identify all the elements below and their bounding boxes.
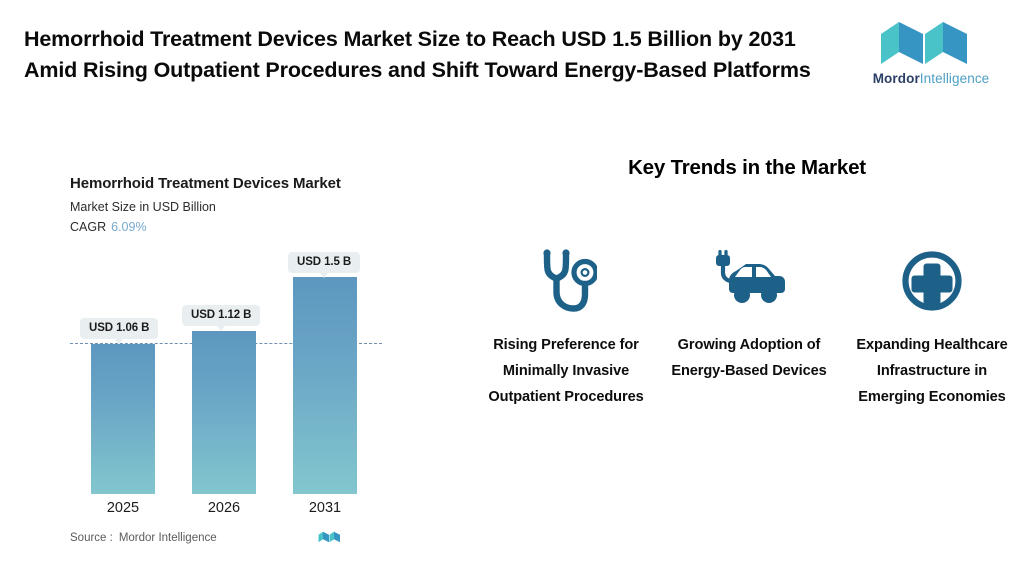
stethoscope-icon <box>535 245 597 317</box>
electric-car-icon <box>712 245 786 317</box>
bar-value-label-2026: USD 1.12 B <box>182 305 260 326</box>
source-label: Source : <box>70 532 113 544</box>
infographic-page: Hemorrhoid Treatment Devices Market Size… <box>0 0 1024 573</box>
key-trends-columns: Rising Preference for Minimally Invasive… <box>482 245 1016 411</box>
brand-word-primary: Mordor <box>873 71 920 86</box>
bar-2025 <box>91 344 155 494</box>
medical-cross-circle-icon <box>900 245 964 317</box>
trend-caption-1: Rising Preference for Minimally Invasive… <box>482 333 650 411</box>
x-axis-label-2025: 2025 <box>78 500 168 516</box>
brand-logo: MordorIntelligence <box>856 20 1006 96</box>
trend-item-3: Expanding Healthcare Infrastructure in E… <box>848 245 1016 411</box>
bar-value-label-2025: USD 1.06 B <box>80 318 158 339</box>
trend-item-1: Rising Preference for Minimally Invasive… <box>482 245 650 411</box>
key-trends-panel: Key Trends in the Market <box>470 150 1024 573</box>
bar-2026 <box>192 331 256 494</box>
brand-wordmark: MordorIntelligence <box>873 71 990 86</box>
brand-word-secondary: Intelligence <box>920 71 990 86</box>
chart-source: Source :Mordor Intelligence <box>70 532 217 544</box>
bar-2031 <box>293 277 357 494</box>
source-mordor-m-logo-icon <box>318 529 344 545</box>
trend-item-2: Growing Adoption of Energy-Based Devices <box>665 245 833 385</box>
x-axis-label-2026: 2026 <box>179 500 269 516</box>
key-trends-title: Key Trends in the Market <box>470 156 1024 180</box>
chart-plot-area: USD 1.06 B USD 1.12 B USD 1.5 B 2025 202… <box>0 150 470 573</box>
bar-value-label-2031: USD 1.5 B <box>288 252 360 273</box>
page-title: Hemorrhoid Treatment Devices Market Size… <box>24 24 824 85</box>
x-axis-label-2031: 2031 <box>280 500 370 516</box>
trend-caption-3: Expanding Healthcare Infrastructure in E… <box>848 333 1016 411</box>
source-value: Mordor Intelligence <box>119 532 217 544</box>
trend-caption-2: Growing Adoption of Energy-Based Devices <box>665 333 833 385</box>
market-size-chart: Hemorrhoid Treatment Devices Market Mark… <box>0 150 470 573</box>
mordor-m-logo-icon <box>879 20 983 66</box>
